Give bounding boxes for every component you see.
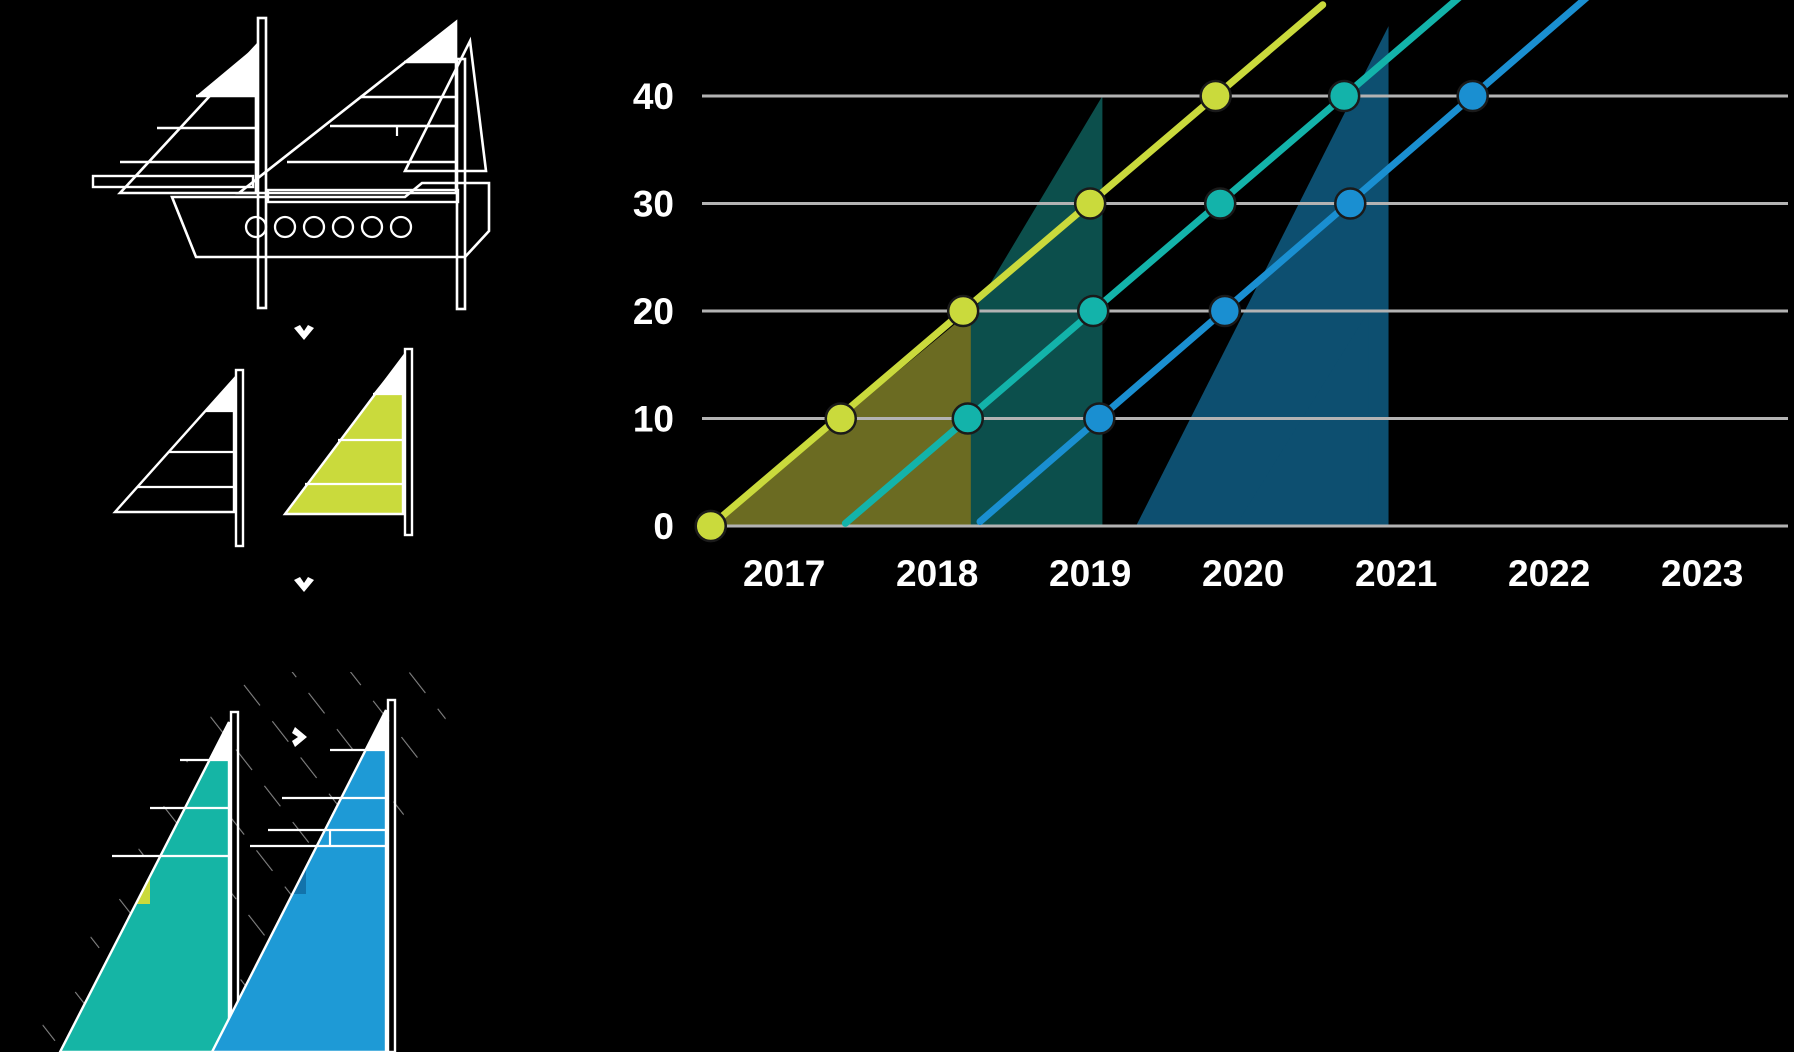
y-tick-label-10: 10 — [633, 399, 674, 440]
illustration-step-sails-isolated — [115, 349, 412, 546]
data-point-marker[interactable] — [1075, 189, 1105, 219]
x-tick-label-2021: 2021 — [1355, 553, 1437, 594]
data-point-marker[interactable] — [1458, 81, 1488, 111]
data-point-marker[interactable] — [1205, 189, 1235, 219]
y-tick-label-30: 30 — [633, 184, 674, 225]
chevron-down-icon-1 — [294, 325, 314, 340]
data-point-marker[interactable] — [948, 296, 978, 326]
sail-left-outline — [115, 379, 234, 512]
x-tick-label-2019: 2019 — [1049, 553, 1131, 594]
illustration-svg — [0, 0, 600, 1052]
porthole — [304, 217, 324, 237]
y-tick-label-0: 0 — [653, 506, 674, 547]
data-point-marker[interactable] — [1084, 404, 1114, 434]
data-point-marker[interactable] — [1335, 189, 1365, 219]
chart-panel: 0102030402017201820192020202120222023 — [600, 0, 1794, 1052]
y-tick-label-40: 40 — [633, 76, 674, 117]
data-point-marker[interactable] — [826, 404, 856, 434]
porthole — [275, 217, 295, 237]
data-point-marker[interactable] — [1210, 296, 1240, 326]
data-point-marker[interactable] — [953, 404, 983, 434]
data-point-marker[interactable] — [1078, 296, 1108, 326]
y-tick-label-20: 20 — [633, 291, 674, 332]
shaded-regions — [711, 26, 1389, 526]
illustration-step-full-sailboat — [93, 18, 489, 309]
data-point-marker[interactable] — [696, 511, 726, 541]
x-tick-label-2022: 2022 — [1508, 553, 1590, 594]
data-point-marker[interactable] — [1201, 81, 1231, 111]
x-tick-label-2020: 2020 — [1202, 553, 1284, 594]
porthole — [391, 217, 411, 237]
screen: 0102030402017201820192020202120222023 — [0, 0, 1794, 1052]
illustration-step-segmented-sails — [28, 672, 466, 1052]
boom-front — [93, 176, 253, 187]
porthole — [362, 217, 382, 237]
data-point-marker[interactable] — [1329, 81, 1359, 111]
sail-left-segmented — [60, 712, 242, 1052]
illustration-panel — [0, 0, 600, 1052]
x-tick-label-2017: 2017 — [743, 553, 825, 594]
sail-front-tip-fill — [196, 46, 256, 96]
porthole — [246, 217, 266, 237]
porthole — [333, 217, 353, 237]
chevron-down-icon-2 — [294, 577, 314, 592]
x-tick-label-2018: 2018 — [896, 553, 978, 594]
growth-line-chart: 0102030402017201820192020202120222023 — [600, 0, 1794, 1052]
x-tick-label-2023: 2023 — [1661, 553, 1743, 594]
